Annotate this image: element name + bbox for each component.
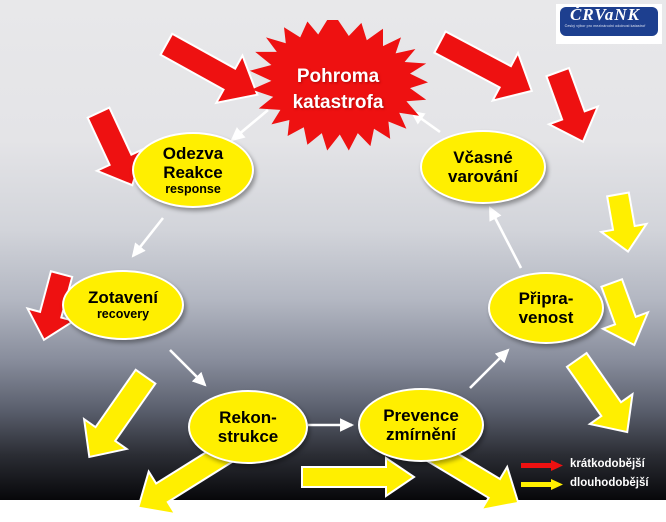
yellow-block-arrow-7 [592,178,654,268]
arrow-prevence-to-pripravenost [470,350,508,388]
yellow-block-arrow-5 [556,348,648,444]
node-pripravenost-line2: venost [519,308,574,327]
legend-long-term-label: dlouhodobější [570,474,649,493]
burst-line-1: Pohroma [297,66,379,87]
arrow-odezva-to-zotaveni [133,218,163,256]
node-prevence-line2: zmírnění [383,425,459,444]
red-block-arrow-5 [530,52,610,160]
node-rekonstrukce[interactable]: Rekon- strukce [188,390,308,464]
arrow-zotaveni-to-rekonstrukce [170,350,205,385]
arrow-pripravenost-to-vcasne [490,208,521,268]
legend-row-short-term: krátkodobější [520,455,666,474]
node-odezva-line2: Reakce [163,163,223,182]
node-prevence[interactable]: Prevence zmírnění [358,388,484,462]
disaster-burst-label: Pohroma katastrofa [248,64,428,116]
node-odezva-line3: response [163,182,223,197]
node-zotaveni[interactable]: Zotavení recovery [62,270,184,340]
node-zotaveni-line3: recovery [88,307,158,322]
node-pripravenost[interactable]: Připra- venost [488,272,604,344]
node-pripravenost-line1: Připra- [519,289,574,308]
node-zotaveni-line1: Zotavení [88,288,158,307]
node-rekonstrukce-line1: Rekon- [218,408,278,427]
node-rekonstrukce-line2: strukce [218,427,278,446]
legend: krátkodobější dlouhodobější [520,455,666,495]
yellow-block-arrow-3 [300,456,416,498]
node-vcasne-varovani[interactable]: Včasné varování [420,130,546,204]
legend-short-term-label: krátkodobější [570,455,645,474]
burst-line-2: katastrofa [293,92,384,113]
diagram-canvas: Pohroma katastrofa Odezva Reakce respons… [0,0,666,500]
legend-row-long-term: dlouhodobější [520,474,666,493]
logo-tagline: Český výbor pro mezinárodní odolnost kat… [556,24,654,29]
node-vcasne-line2: varování [448,167,518,186]
logo-wordmark: ČRVaNK [556,5,654,24]
node-odezva-line1: Odezva [163,144,223,163]
red-block-arrow-4 [430,24,540,108]
crvnk-logo: ČRVaNK Český výbor pro mezinárodní odoln… [556,4,662,44]
legend-yellow-arrow-icon [520,478,564,496]
node-odezva[interactable]: Odezva Reakce response [132,132,254,208]
node-vcasne-line1: Včasné [448,148,518,167]
node-prevence-line1: Prevence [383,406,459,425]
